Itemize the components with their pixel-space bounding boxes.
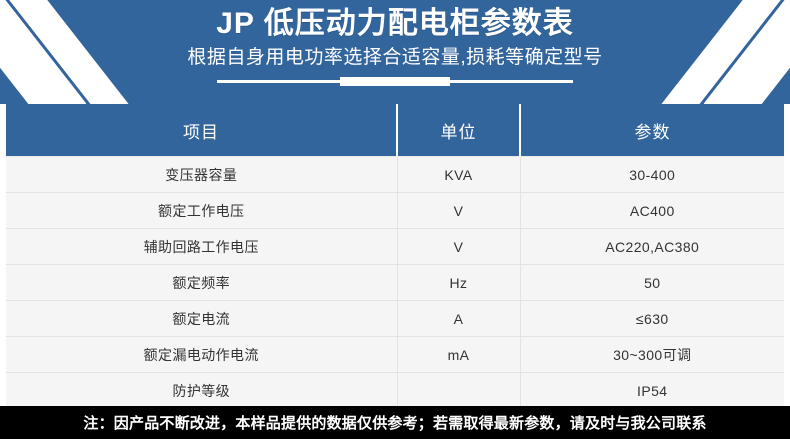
cell-param: 30~300可调 [520, 337, 784, 373]
table-row: 额定漏电动作电流mA30~300可调 [6, 337, 784, 373]
spec-sheet: JP 低压动力配电柜参数表 根据自身用电功率选择合适容量,损耗等确定型号 项目 … [0, 0, 790, 439]
table-header: 项目 单位 参数 [6, 104, 784, 157]
spec-table-container: 项目 单位 参数 变压器容量KVA30-400额定工作电压VAC400辅助回路工… [0, 104, 790, 409]
cell-param: 50 [520, 265, 784, 301]
cell-unit: A [397, 301, 520, 337]
cell-item: 额定电流 [6, 301, 397, 337]
cell-param: AC400 [520, 193, 784, 229]
cell-param: ≤630 [520, 301, 784, 337]
table-row: 额定电流A≤630 [6, 301, 784, 337]
ornament-center-block [340, 77, 450, 86]
footer-note: 注：因产品不断改进，本样品提供的数据仅供参考；若需取得最新参数，请及时与我公司联… [0, 406, 790, 439]
cell-unit: mA [397, 337, 520, 373]
cell-item: 防护等级 [6, 373, 397, 409]
cell-item: 额定漏电动作电流 [6, 337, 397, 373]
cell-item: 变压器容量 [6, 157, 397, 193]
cell-item: 额定工作电压 [6, 193, 397, 229]
cell-item: 辅助回路工作电压 [6, 229, 397, 265]
cell-item: 额定频率 [6, 265, 397, 301]
column-header-unit: 单位 [397, 104, 520, 157]
page-title: JP 低压动力配电柜参数表 [216, 5, 574, 43]
banner-content: JP 低压动力配电柜参数表 根据自身用电功率选择合适容量,损耗等确定型号 [0, 0, 790, 104]
cell-param: AC220,AC380 [520, 229, 784, 265]
cell-param: IP54 [520, 373, 784, 409]
column-header-item: 项目 [6, 104, 397, 157]
title-underline-ornament [217, 77, 573, 86]
cell-unit: KVA [397, 157, 520, 193]
page-subtitle: 根据自身用电功率选择合适容量,损耗等确定型号 [187, 46, 602, 70]
table-header-row: 项目 单位 参数 [6, 104, 784, 157]
cell-unit: V [397, 193, 520, 229]
table-row: 防护等级IP54 [6, 373, 784, 409]
cell-unit [397, 373, 520, 409]
header-banner: JP 低压动力配电柜参数表 根据自身用电功率选择合适容量,损耗等确定型号 [0, 0, 790, 104]
table-row: 变压器容量KVA30-400 [6, 157, 784, 193]
table-row: 额定频率Hz50 [6, 265, 784, 301]
spec-table: 项目 单位 参数 变压器容量KVA30-400额定工作电压VAC400辅助回路工… [6, 104, 784, 409]
cell-param: 30-400 [520, 157, 784, 193]
cell-unit: V [397, 229, 520, 265]
column-header-param: 参数 [520, 104, 784, 157]
table-body: 变压器容量KVA30-400额定工作电压VAC400辅助回路工作电压VAC220… [6, 157, 784, 409]
table-row: 辅助回路工作电压VAC220,AC380 [6, 229, 784, 265]
table-row: 额定工作电压VAC400 [6, 193, 784, 229]
cell-unit: Hz [397, 265, 520, 301]
